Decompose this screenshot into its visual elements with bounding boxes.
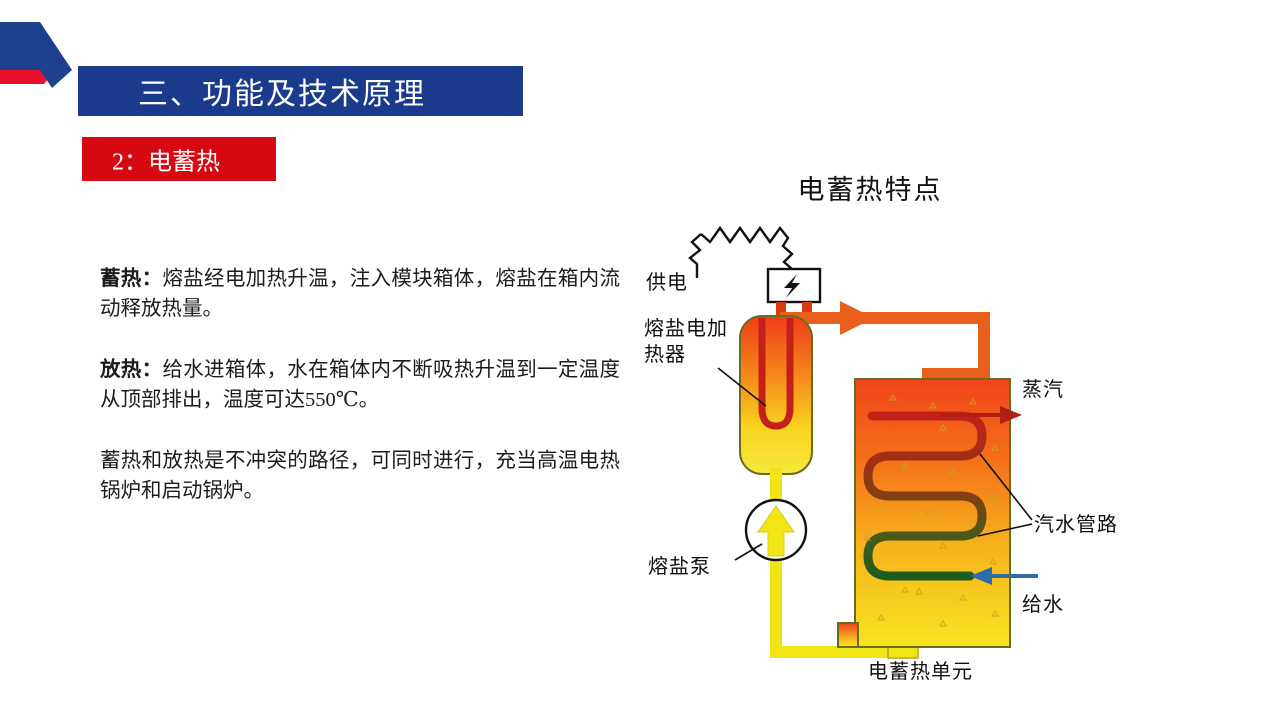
corner-decoration bbox=[0, 22, 78, 102]
paragraph-summary: 蓄热和放热是不冲突的路径，可同时进行，充当高温电热锅炉和启动锅炉。 bbox=[100, 446, 620, 506]
section-title-label: 三、功能及技术原理 bbox=[138, 69, 426, 113]
label-salt-heater: 熔盐电加热器 bbox=[644, 316, 728, 368]
body-text-block: 蓄热：熔盐经电加热升温，注入模块箱体，熔盐在箱内流动释放热量。 放热：给水进箱体… bbox=[100, 243, 620, 506]
label-steam-water-pipe: 汽水管路 bbox=[1034, 508, 1118, 537]
molten-salt-pump bbox=[746, 500, 806, 560]
paragraph-release-text: 给水进箱体，水在箱体内不断吸热升温到一定温度从顶部排出，温度可达550℃。 bbox=[100, 359, 620, 411]
heat-storage-tank bbox=[838, 379, 1010, 647]
hot-flow-arrow bbox=[840, 301, 874, 335]
paragraph-storage-lead: 蓄热： bbox=[100, 268, 162, 290]
molten-salt-heater bbox=[740, 316, 812, 474]
paragraph-storage: 蓄热：熔盐经电加热升温，注入模块箱体，熔盐在箱内流动释放热量。 bbox=[100, 264, 620, 324]
thermal-storage-diagram: 电蓄热特点 bbox=[640, 168, 1100, 688]
label-storage-unit: 电蓄热单元 bbox=[868, 655, 973, 684]
label-feed-water: 给水 bbox=[1022, 588, 1064, 617]
label-salt-pump: 熔盐泵 bbox=[648, 550, 711, 579]
section-title-bar: 三、功能及技术原理 bbox=[78, 66, 523, 116]
subsection-title-label: 2：电蓄热 bbox=[112, 142, 220, 177]
label-power-supply: 供电 bbox=[646, 266, 688, 295]
power-supply-box bbox=[768, 269, 820, 302]
label-steam: 蒸汽 bbox=[1022, 373, 1064, 402]
paragraph-release-lead: 放热： bbox=[100, 359, 162, 381]
paragraph-summary-text: 蓄热和放热是不冲突的路径，可同时进行，充当高温电热锅炉和启动锅炉。 bbox=[100, 450, 620, 502]
paragraph-release: 放热：给水进箱体，水在箱体内不断吸热升温到一定温度从顶部排出，温度可达550℃。 bbox=[100, 355, 620, 415]
paragraph-storage-text: 熔盐经电加热升温，注入模块箱体，熔盐在箱内流动释放热量。 bbox=[100, 268, 620, 320]
subsection-title-bar: 2：电蓄热 bbox=[82, 137, 276, 181]
corner-blue-shape bbox=[0, 22, 72, 70]
